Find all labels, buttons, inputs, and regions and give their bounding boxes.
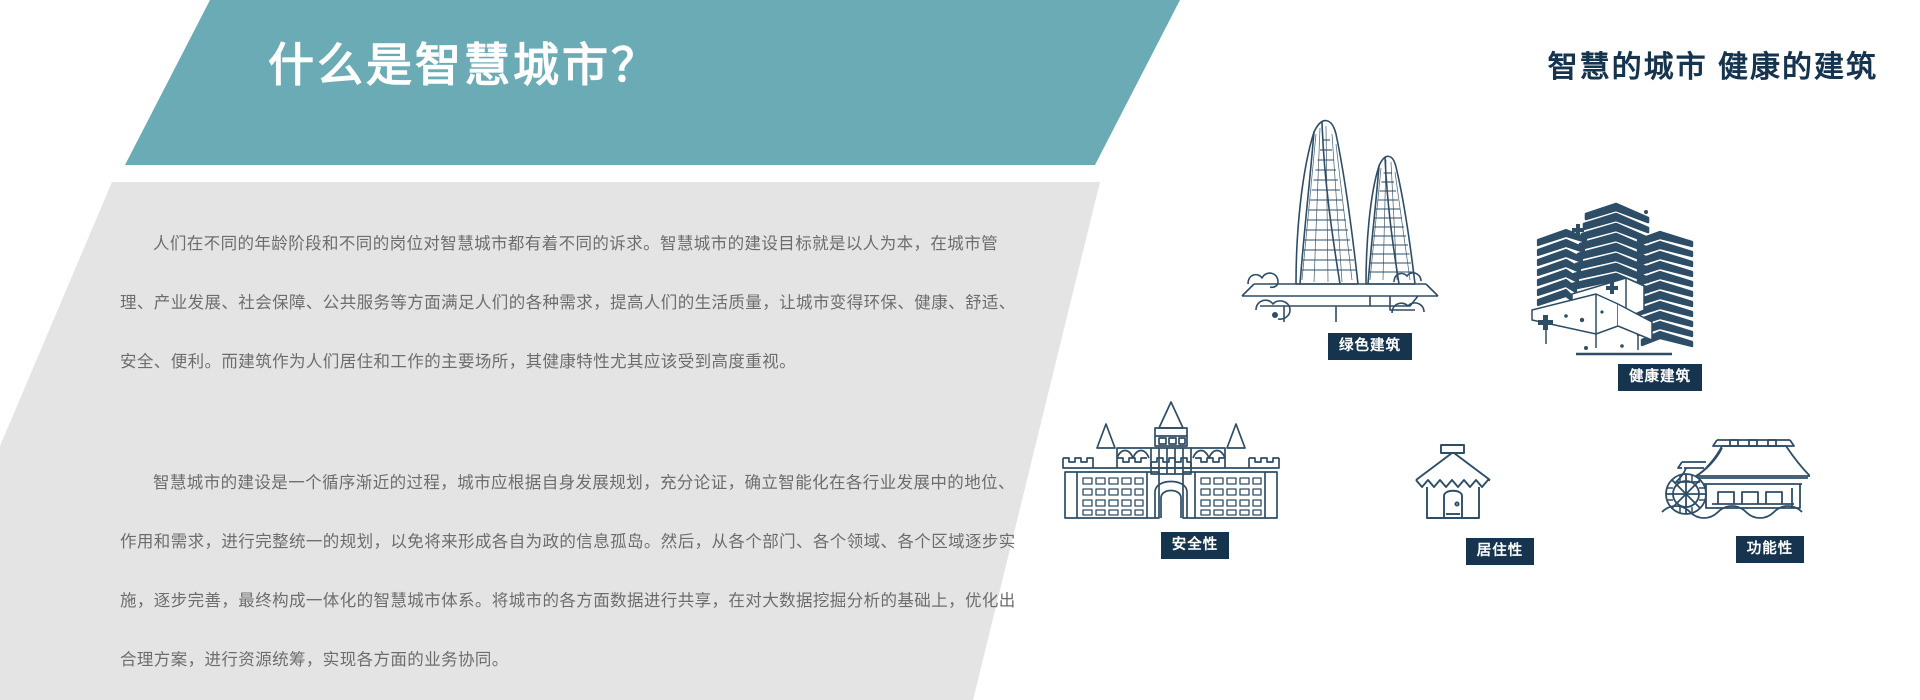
icon-gallery: 绿色建筑	[1060, 110, 1920, 670]
body-text: 人们在不同的年龄阶段和不同的岗位对智慧城市都有着不同的诉求。智慧城市的建设目标就…	[120, 215, 1030, 690]
label-wrap-safety: 安全性	[1055, 532, 1335, 559]
castle-icon	[1055, 400, 1335, 522]
icon-cell-health-building: 健康建筑	[1530, 198, 1790, 391]
poster-canvas: 什么是智慧城市？ 智慧的城市 健康的建筑 人们在不同的年龄阶段和不同的岗位对智慧…	[0, 0, 1920, 700]
icon-cell-functionality: 功能性	[1660, 430, 1880, 563]
icon-cell-livability: 居住性	[1410, 440, 1590, 565]
twin-towers-icon	[1240, 110, 1500, 325]
page-title: 什么是智慧城市？	[268, 38, 660, 93]
paragraph-2: 智慧城市的建设是一个循序渐近的过程，城市应根据自身发展规划，充分论证，确立智能化…	[120, 454, 1030, 690]
icon-cell-green-building: 绿色建筑	[1240, 110, 1500, 360]
label-wrap-green-building: 绿色建筑	[1240, 333, 1500, 360]
icon-label-green-building: 绿色建筑	[1328, 333, 1412, 360]
icon-label-functionality: 功能性	[1736, 536, 1805, 563]
icon-label-safety: 安全性	[1161, 532, 1230, 559]
tagline: 智慧的城市 健康的建筑	[1548, 42, 1878, 86]
icon-cell-safety: 安全性	[1055, 400, 1335, 559]
icon-label-health-building: 健康建筑	[1618, 364, 1702, 391]
house-icon	[1410, 440, 1590, 526]
watermill-pavilion-icon	[1660, 430, 1880, 522]
icon-label-livability: 居住性	[1466, 538, 1535, 565]
label-wrap-health-building: 健康建筑	[1530, 364, 1790, 391]
hospital-complex-icon	[1530, 198, 1790, 358]
paragraph-1: 人们在不同的年龄阶段和不同的岗位对智慧城市都有着不同的诉求。智慧城市的建设目标就…	[120, 215, 1030, 392]
label-wrap-livability: 居住性	[1410, 538, 1590, 565]
label-wrap-functionality: 功能性	[1660, 536, 1880, 563]
